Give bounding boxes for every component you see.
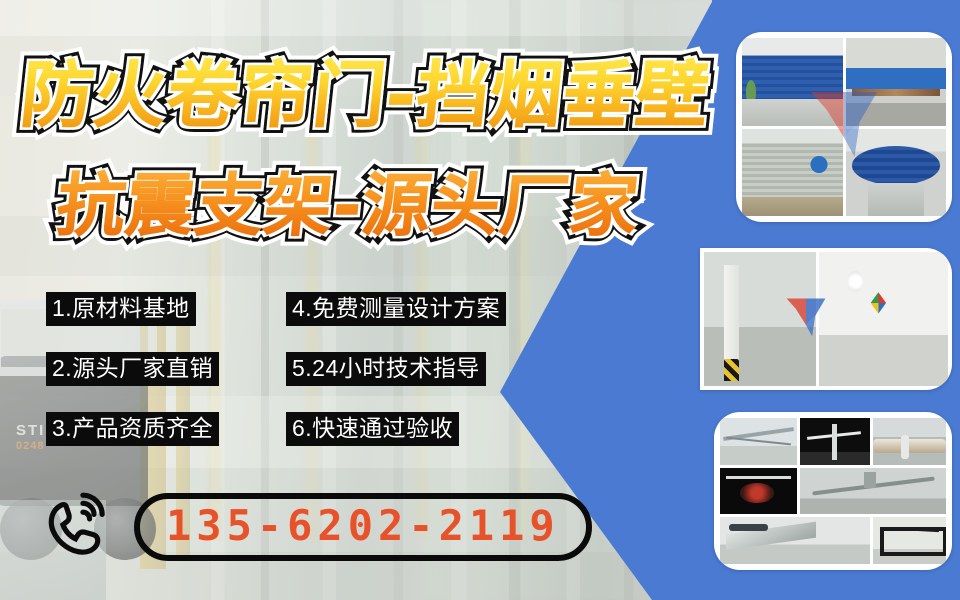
feature-cell: 3.产品资质齐全 [46,412,286,446]
photo-shutter-production-machine [846,38,947,126]
feature-cell: 4.免费测量设计方案 [286,292,566,326]
feature-item-2: 2.源头厂家直销 [46,352,219,386]
photo-red-fan-ceiling-mount [720,468,797,515]
phone-number-plate[interactable]: 135-6202-2119 [134,493,592,561]
collage-installation-sites[interactable] [700,248,952,390]
photo-grey-rolling-shutter-corridor [742,129,843,217]
feature-item-3: 3.产品资质齐全 [46,412,219,446]
feature-item-4: 4.免费测量设计方案 [286,292,506,326]
collage-fire-shutter-products[interactable] [736,32,952,222]
headline-secondary-text: 抗震支架-源头厂家 [53,167,643,246]
feature-item-1: 1.原材料基地 [46,292,196,326]
photo-duct-hanger-assembly [720,517,870,564]
advertisement-poster: STILL 0248 防火卷帘门-挡烟垂壁 防火卷帘门-挡烟垂壁 防火卷帘门-挡… [0,0,960,600]
photo-grid [704,252,948,386]
photo-blue-shutter-roll-coil [846,129,947,217]
contact-row[interactable]: 135-6202-2119 [40,490,592,564]
photo-ceiling-interior-lights [819,252,948,386]
photo-blue-rolling-fire-shutter-door [742,38,843,126]
collage-seismic-bracing-products[interactable] [714,412,952,570]
photo-pipe-clamp-support [873,418,946,465]
feature-list: 1.原材料基地 4.免费测量设计方案 2.源头厂家直销 5.24小时技术指导 3… [46,292,566,472]
feature-cell: 2.源头厂家直销 [46,352,286,386]
headline-primary-text: 防火卷帘门-挡烟垂壁 [17,53,714,137]
feature-cell: 6.快速通过验收 [286,412,566,446]
photo-steel-frame-structure [873,517,946,564]
feature-row: 2.源头厂家直销 5.24小时技术指导 [46,352,566,386]
photo-dark-brace-clamp [800,418,870,465]
photo-underground-parking-columns [704,252,816,386]
feature-item-5: 5.24小时技术指导 [286,352,486,386]
photo-large-ceiling-fan-brace [800,468,946,515]
photo-grid [720,418,946,564]
feature-item-6: 6.快速通过验收 [286,412,459,446]
feature-row: 3.产品资质齐全 6.快速通过验收 [46,412,566,446]
headline-primary: 防火卷帘门-挡烟垂壁 防火卷帘门-挡烟垂壁 防火卷帘门-挡烟垂壁 [16,36,715,141]
photo-ceiling-pipe-bracket [720,418,797,465]
feature-cell: 1.原材料基地 [46,292,286,326]
feature-row: 1.原材料基地 4.免费测量设计方案 [46,292,566,326]
headline-secondary: 抗震支架-源头厂家 抗震支架-源头厂家 抗震支架-源头厂家 [53,150,645,249]
photo-grid [742,38,946,216]
feature-cell: 5.24小时技术指导 [286,352,566,386]
phone-ringing-icon [40,490,114,564]
phone-number[interactable]: 135-6202-2119 [166,502,560,549]
